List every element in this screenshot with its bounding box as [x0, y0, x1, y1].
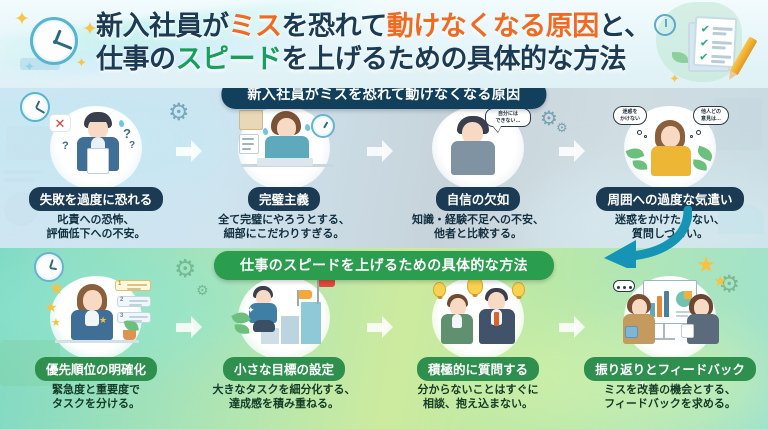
- title-seg: と、: [599, 11, 651, 41]
- card-label: 積極的に質問する: [417, 357, 539, 381]
- lightbulb-icon: [433, 282, 446, 297]
- sparkle-icon: ✦: [247, 306, 255, 315]
- card-label: 完璧主義: [248, 187, 320, 211]
- title-seg: を恐れて: [282, 11, 387, 41]
- illustration-hesitant-woman: 迷惑を かけない 他人どの 意見は…: [611, 102, 729, 186]
- clipboard-checklist-icon: ✔ ✔ ✔: [684, 14, 746, 76]
- card-lack-of-confidence[interactable]: 自分には できない… 自信の欠如 知識・経験不足への不安、 他者と比較する。: [390, 102, 566, 241]
- illustration-man-climbing-steps-with-flags: ✦ ✦: [225, 272, 343, 356]
- card-description: 全て完璧にやろうとする、 細部にこだわりすぎる。: [196, 214, 372, 241]
- star-icon: ★: [45, 300, 58, 314]
- star-icon: ★: [714, 274, 727, 289]
- arrow-right-icon: [176, 140, 202, 162]
- arrow-right-icon: [559, 316, 585, 338]
- card-description: 知識・経験不足への不安、 他者と比較する。: [390, 214, 566, 241]
- arrow-right-icon: [176, 316, 202, 338]
- infographic-root: ✦ ✦ ✦ ✦ 新入社員がミスを恐れて動けなくなる原因と、 仕事のスピードを上げ…: [0, 0, 768, 429]
- illustration-woman-with-puzzle: [225, 102, 343, 186]
- card-description: 分からないことはすぐに 相談、抱え込まない。: [390, 384, 566, 411]
- thought-bubble-left: 迷惑を かけない: [613, 106, 647, 125]
- illustration-two-women-at-presentation-board: ★: [611, 272, 729, 356]
- illustration-downcast-man: 自分には できない…: [419, 102, 537, 186]
- plant-icon: [123, 330, 136, 340]
- sparkle-icon: ✦: [14, 10, 30, 29]
- arrow-right-icon: [559, 140, 585, 162]
- title-seg: を上げるための具体的な方法: [282, 44, 627, 74]
- speech-bubble: 自分には できない…: [485, 108, 531, 127]
- card-label: 優先順位の明確化: [35, 357, 157, 381]
- sparkle-icon: ✦: [669, 72, 680, 85]
- card-description: 叱責への恐怖、 評価低下への不安。: [8, 214, 184, 241]
- page-title: 新入社員がミスを恐れて動けなくなる原因と、 仕事のスピードを上げるための具体的な…: [96, 4, 676, 82]
- card-failure-fear[interactable]: ✕ ? ? ? 失敗を過度に恐れる 叱責への恐怖、 評価低下への不安。: [8, 102, 184, 241]
- title-line-1: 新入社員がミスを恐れて動けなくなる原因と、: [96, 10, 676, 43]
- card-label: 失敗を過度に恐れる: [29, 187, 164, 211]
- card-description: 大きなタスクを細分化する、 達成感を積み重ねる。: [196, 384, 372, 411]
- sparkle-icon: ✦: [76, 56, 87, 69]
- illustration-woman-with-priority-list: ★ ★ ★ 1 2 3: [37, 272, 155, 356]
- card-feedback-review[interactable]: ★ 振り返りとフィードバック ミスを改善の機会とする、 フィードバックを求める。: [582, 272, 758, 411]
- curved-arrow-down-left-icon: [596, 206, 692, 268]
- title-seg-accent: 動けなくなる原因: [387, 11, 599, 41]
- card-label: 自信の欠如: [436, 187, 521, 211]
- outline-clock-icon: [654, 14, 676, 36]
- clock-icon: [30, 17, 78, 65]
- card-ask-questions[interactable]: 積極的に質問する 分からないことはすぐに 相談、抱え込まない。: [390, 272, 566, 411]
- title-seg-accent: スピード: [176, 44, 282, 74]
- lightbulb-icon: [512, 282, 525, 297]
- priority-item-2: 2: [117, 296, 151, 307]
- card-label: 小さな目標の設定: [223, 357, 345, 381]
- question-mark-icon: ?: [123, 126, 131, 141]
- clock-icon: [311, 114, 335, 138]
- illustration-worried-man-with-paper: ✕ ? ? ?: [37, 102, 155, 186]
- title-line-2: 仕事のスピードを上げるための具体的な方法: [96, 43, 676, 76]
- section-banner-causes: 新入社員がミスを恐れて動けなくなる原因: [221, 88, 546, 109]
- thought-bubble-right: 他人どの 意見は…: [693, 106, 729, 125]
- title-seg: 仕事の: [96, 44, 176, 74]
- card-perfectionism[interactable]: 完璧主義 全て完璧にやろうとする、 細部にこだわりすぎる。: [196, 102, 372, 241]
- card-description: 緊急度と重要度で タスクを分ける。: [8, 384, 184, 411]
- card-description: ミスを改善の機会とする、 フィードバックを求める。: [582, 384, 758, 411]
- star-icon: ★: [49, 280, 64, 297]
- header: ✦ ✦ ✦ ✦ 新入社員がミスを恐れて動けなくなる原因と、 仕事のスピードを上げ…: [0, 0, 768, 88]
- title-seg: 新入社員が: [96, 11, 229, 41]
- star-icon: ★: [99, 316, 107, 325]
- card-small-goals[interactable]: ✦ ✦ 小さな目標の設定 大きなタスクを細分化する、 達成感を積み重ねる。: [196, 272, 372, 411]
- x-mark-icon: ✕: [49, 114, 71, 132]
- star-icon: ★: [51, 318, 61, 329]
- title-seg-accent: ミス: [229, 11, 282, 41]
- card-label: 振り返りとフィードバック: [584, 357, 756, 381]
- priority-item-1: 1: [115, 280, 151, 291]
- sparkle-icon: ✦: [24, 60, 35, 73]
- question-mark-icon: ?: [62, 140, 69, 152]
- arrow-right-icon: [367, 316, 393, 338]
- card-prioritization[interactable]: ★ ★ ★ 1 2 3: [8, 272, 184, 411]
- section-banner-methods: 仕事のスピードを上げるための具体的な方法: [214, 251, 554, 280]
- question-mark-icon: ?: [129, 140, 135, 151]
- arrow-right-icon: [367, 140, 393, 162]
- speech-bubble-dots: [613, 280, 635, 292]
- sparkle-icon: ✦: [281, 282, 290, 293]
- section-methods: ⚙ ⚙ ⚙ ★ ✦ ✦ 仕事のスピードを上げるための具体的な方法 ★ ★ ★ 1: [0, 248, 768, 429]
- illustration-two-men-discussing-with-lightbulbs: [419, 272, 537, 356]
